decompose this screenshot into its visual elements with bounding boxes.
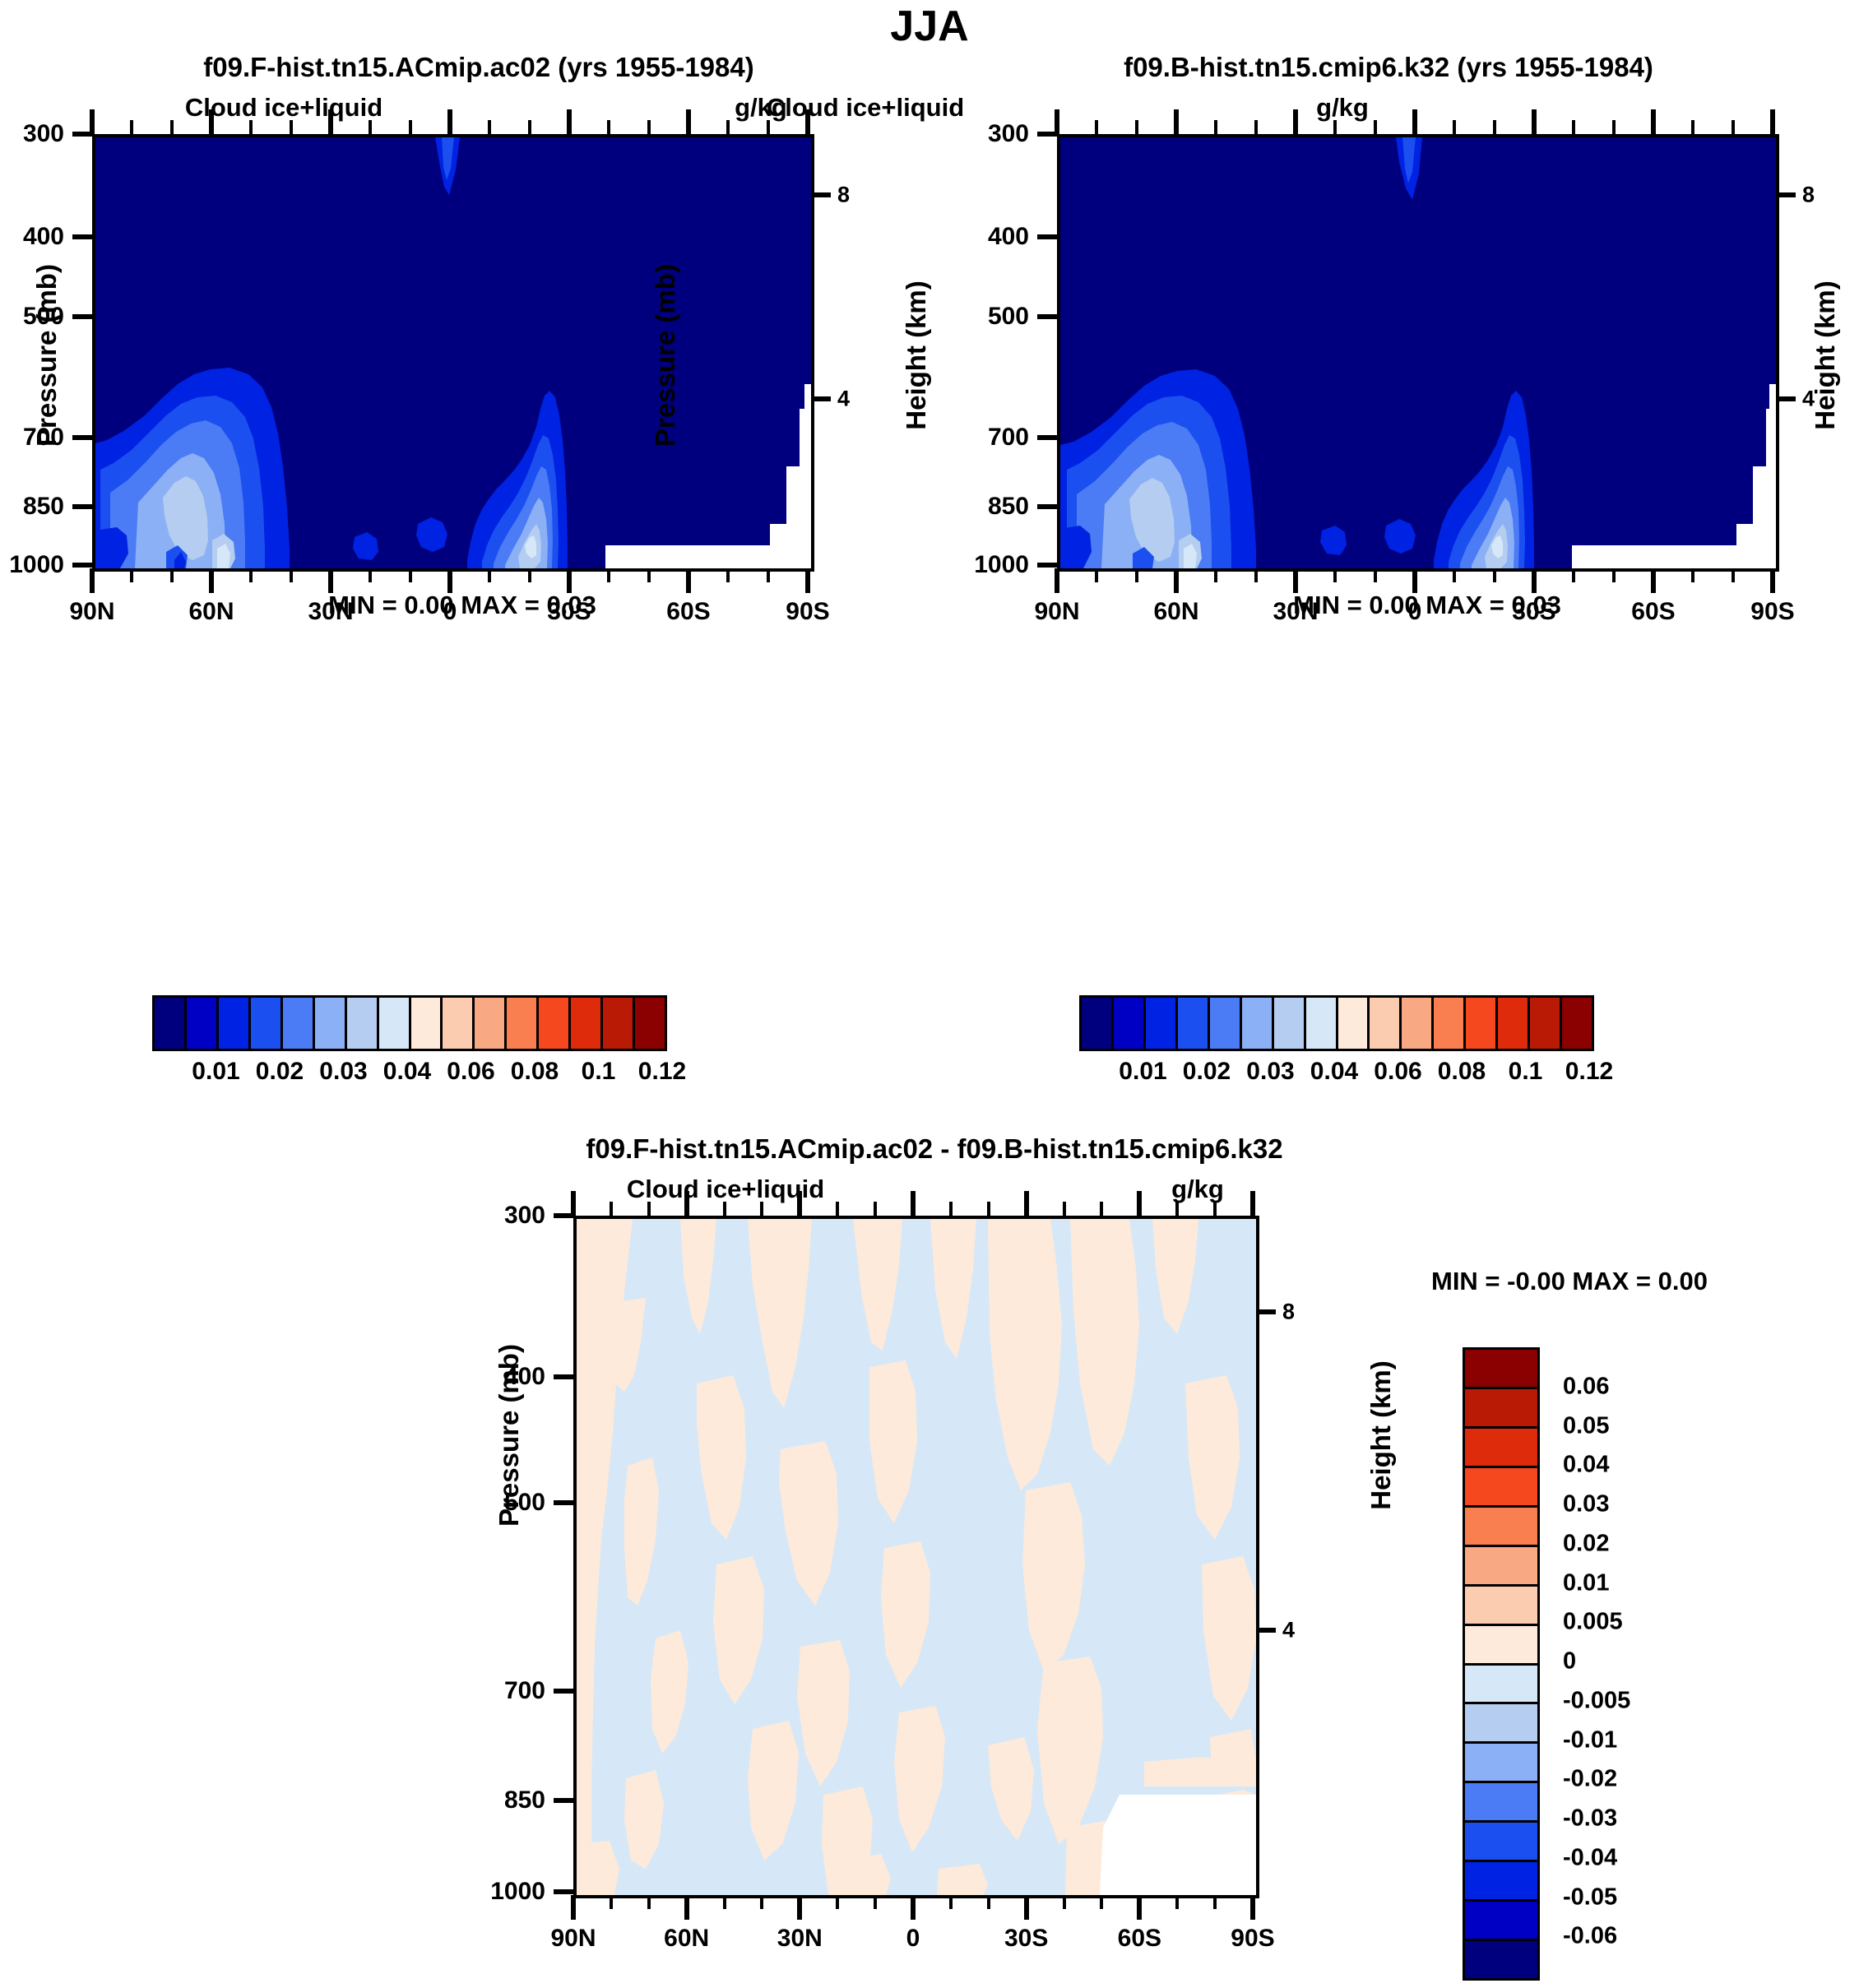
x-tick-label: 60N: [664, 1925, 709, 1953]
x-minor-tick-mark: [647, 568, 651, 582]
colorbar-tick-label: 0.04: [1310, 1058, 1358, 1086]
colorbar-cell[interactable]: [507, 998, 539, 1049]
colorbar-cell[interactable]: [347, 998, 379, 1049]
x-top-tick-mark: [797, 1191, 802, 1216]
colorbar-tick-label: 0.05: [1563, 1412, 1609, 1439]
colorbar-cell[interactable]: [315, 998, 347, 1049]
x-minor-tick-mark: [874, 1895, 877, 1909]
x-top-minor-tick-mark: [760, 1202, 763, 1216]
x-top-minor-tick-mark: [1374, 120, 1377, 134]
panel-title-right: f09.B-hist.tn15.cmip6.k32 (yrs 1955-1984…: [1124, 52, 1653, 83]
x-tick-label: 90S: [786, 598, 829, 626]
colorbar-tick-label: 0.06: [447, 1058, 494, 1086]
colorbar-right[interactable]: [1079, 995, 1594, 1051]
x-tick-mark: [1293, 568, 1298, 593]
colorbar-cell[interactable]: [1338, 998, 1370, 1049]
colorbar-tick-label: 0.02: [256, 1058, 304, 1086]
colorbar-cell[interactable]: [1242, 998, 1274, 1049]
x-top-minor-tick-mark: [1493, 120, 1496, 134]
x-minor-tick-mark: [409, 568, 412, 582]
x-top-minor-tick-mark: [528, 120, 531, 134]
x-tick-label: 0: [906, 1925, 920, 1953]
x-minor-tick-mark: [1572, 568, 1575, 582]
colorbar-tick-label: 0.12: [1565, 1058, 1613, 1086]
colorbar-cell[interactable]: [1114, 998, 1146, 1049]
x-tick-label: 30N: [777, 1925, 823, 1953]
y-tick-label: 500: [988, 303, 1029, 331]
colorbar-cell[interactable]: [1434, 998, 1466, 1049]
x-minor-tick-mark: [130, 568, 133, 582]
plot-area-left: [92, 134, 814, 572]
y-tick-label: 850: [504, 1786, 545, 1814]
y-tick-label: 850: [988, 493, 1029, 521]
colorbar-cell[interactable]: [1465, 1902, 1537, 1941]
x-tick-mark: [571, 1895, 576, 1920]
colorbar-tick-label: 0.08: [511, 1058, 559, 1086]
colorbar-tick-label: -0.01: [1563, 1726, 1617, 1754]
x-top-minor-tick-mark: [1135, 120, 1138, 134]
x-minor-tick-mark: [488, 568, 491, 582]
contour-fill-right: [1060, 137, 1776, 568]
colorbar-cell[interactable]: [1082, 998, 1114, 1049]
y-tick-mark: [1037, 314, 1057, 319]
x-top-tick-mark: [1770, 109, 1775, 134]
colorbar-tick-label: 0.01: [1119, 1058, 1166, 1086]
colorbar-cell[interactable]: [1306, 998, 1338, 1049]
x-tick-label: 60N: [1153, 598, 1198, 626]
panel-title-diff: f09.F-hist.tn15.ACmip.ac02 - f09.B-hist.…: [586, 1133, 1282, 1165]
colorbar-cell[interactable]: [1466, 998, 1498, 1049]
x-tick-mark: [90, 568, 95, 593]
x-tick-label: 90N: [1034, 598, 1079, 626]
y2-tick-mark: [1776, 396, 1796, 401]
y-tick-mark: [554, 1500, 573, 1505]
x-tick-mark: [1770, 568, 1775, 593]
colorbar-cell[interactable]: [251, 998, 283, 1049]
colorbar-left[interactable]: [152, 995, 667, 1051]
y-tick-mark: [554, 1374, 573, 1379]
x-minor-tick-mark: [987, 1895, 990, 1909]
x-top-tick-mark: [571, 1191, 576, 1216]
colorbar-cell[interactable]: [1530, 998, 1562, 1049]
x-tick-mark: [1651, 568, 1656, 593]
y-tick-label: 1000: [9, 551, 64, 579]
contour-fill-left: [95, 137, 811, 568]
colorbar-cell[interactable]: [1178, 998, 1210, 1049]
y-tick-label: 700: [23, 424, 64, 452]
x-top-minor-tick-mark: [130, 120, 133, 134]
x-minor-tick-mark: [1095, 568, 1098, 582]
x-top-minor-tick-mark: [726, 120, 730, 134]
x-minor-tick-mark: [249, 568, 253, 582]
x-minor-tick-mark: [1214, 568, 1217, 582]
colorbar-cell[interactable]: [1465, 1429, 1537, 1468]
x-minor-tick-mark: [1100, 1895, 1103, 1909]
x-tick-mark: [1412, 568, 1417, 593]
x-top-tick-mark: [1137, 1191, 1142, 1216]
y-tick-mark: [1037, 563, 1057, 568]
y-tick-label: 300: [23, 120, 64, 148]
figure-suptitle: JJA: [890, 2, 968, 51]
y-tick-mark: [554, 1889, 573, 1894]
x-minor-tick-mark: [723, 1895, 726, 1909]
colorbar-tick-label: 0.1: [582, 1058, 616, 1086]
minmax-right: MIN = 0.00 MAX = 0.03: [1293, 591, 1561, 620]
colorbar-cell[interactable]: [1402, 998, 1434, 1049]
x-top-minor-tick-mark: [647, 120, 651, 134]
y-tick-label: 400: [23, 223, 64, 251]
colorbar-tick-label: 0.08: [1438, 1058, 1486, 1086]
colorbar-tick-label: -0.05: [1563, 1884, 1617, 1911]
x-minor-tick-mark: [760, 1895, 763, 1909]
y2-tick-label: 4: [837, 386, 850, 411]
y-tick-mark: [72, 234, 92, 239]
x-top-tick-mark: [686, 109, 691, 134]
colorbar-cell[interactable]: [1465, 1744, 1537, 1783]
colorbar-cell[interactable]: [1562, 998, 1592, 1049]
x-top-tick-mark: [90, 109, 95, 134]
x-tick-mark: [1024, 1895, 1029, 1920]
x-tick-label: 90S: [1231, 1925, 1274, 1953]
x-top-minor-tick-mark: [488, 120, 491, 134]
y2-tick-mark: [811, 192, 831, 197]
x-minor-tick-mark: [1213, 1895, 1217, 1909]
x-tick-mark: [328, 568, 333, 593]
colorbar-tick-label: 0.04: [383, 1058, 431, 1086]
x-minor-tick-mark: [1333, 568, 1337, 582]
x-top-minor-tick-mark: [1214, 120, 1217, 134]
colorbar-cell[interactable]: [1498, 998, 1530, 1049]
y-tick-label: 300: [988, 120, 1029, 148]
y-tick-mark: [554, 1798, 573, 1803]
y-axis-title-right: Pressure (mb): [650, 264, 681, 447]
x-top-minor-tick-mark: [1063, 1202, 1066, 1216]
x-minor-tick-mark: [1453, 568, 1456, 582]
x-top-minor-tick-mark: [1691, 120, 1694, 134]
x-top-minor-tick-mark: [1100, 1202, 1103, 1216]
y-tick-label: 500: [23, 303, 64, 331]
x-tick-label: 60N: [188, 598, 234, 626]
colorbar-tick-label: 0.005: [1563, 1609, 1623, 1636]
x-minor-tick-mark: [949, 1895, 953, 1909]
plot-area-right: [1057, 134, 1779, 572]
x-tick-mark: [447, 568, 452, 593]
colorbar-cell[interactable]: [571, 998, 603, 1049]
x-top-minor-tick-mark: [1095, 120, 1098, 134]
colorbar-tick-label: 0.02: [1563, 1530, 1609, 1557]
y2-tick-label: 4: [1282, 1618, 1295, 1643]
minmax-diff: MIN = -0.00 MAX = 0.00: [1431, 1267, 1708, 1296]
x-top-tick-mark: [1024, 1191, 1029, 1216]
field-label-right: Cloud ice+liquid: [767, 93, 964, 123]
colorbar-tick-label: 0.1: [1509, 1058, 1543, 1086]
colorbar-cell[interactable]: [1465, 1587, 1537, 1626]
x-tick-label: 90N: [69, 598, 114, 626]
x-minor-tick-mark: [836, 1895, 839, 1909]
colorbar-cell[interactable]: [1370, 998, 1402, 1049]
x-top-tick-mark: [1532, 109, 1537, 134]
x-top-minor-tick-mark: [874, 1202, 877, 1216]
y-axis-title-left: Pressure (mb): [31, 264, 63, 447]
x-top-minor-tick-mark: [1213, 1202, 1217, 1216]
x-top-minor-tick-mark: [290, 120, 293, 134]
x-tick-mark: [684, 1895, 689, 1920]
colorbar-cell[interactable]: [603, 998, 635, 1049]
x-tick-mark: [209, 568, 214, 593]
x-tick-label: 60S: [1631, 598, 1675, 626]
colorbar-diff[interactable]: [1463, 1347, 1540, 1981]
x-minor-tick-mark: [610, 1895, 613, 1909]
x-minor-tick-mark: [1063, 1895, 1066, 1909]
colorbar-tick-label: 0.03: [319, 1058, 367, 1086]
colorbar-tick-label: 0.03: [1563, 1491, 1609, 1518]
colorbar-cell[interactable]: [283, 998, 315, 1049]
x-minor-tick-mark: [1732, 568, 1735, 582]
x-top-tick-mark: [684, 1191, 689, 1216]
x-top-minor-tick-mark: [1254, 120, 1258, 134]
y-tick-label: 400: [988, 223, 1029, 251]
x-tick-label: 60S: [666, 598, 710, 626]
y-tick-label: 500: [504, 1489, 545, 1517]
y2-tick-mark: [811, 396, 831, 401]
x-top-minor-tick-mark: [1453, 120, 1456, 134]
x-top-minor-tick-mark: [249, 120, 253, 134]
colorbar-cell[interactable]: [1274, 998, 1306, 1049]
y-tick-label: 400: [504, 1363, 545, 1391]
colorbar-cell[interactable]: [187, 998, 219, 1049]
y-tick-label: 700: [504, 1677, 545, 1705]
y-tick-label: 850: [23, 493, 64, 521]
colorbar-cell[interactable]: [1465, 1547, 1537, 1587]
y-tick-label: 300: [504, 1202, 545, 1230]
x-top-minor-tick-mark: [1333, 120, 1337, 134]
field-label-left: Cloud ice+liquid: [185, 93, 382, 123]
x-top-minor-tick-mark: [949, 1202, 953, 1216]
colorbar-cell[interactable]: [155, 998, 187, 1049]
x-top-tick-mark: [1250, 1191, 1255, 1216]
colorbar-cell[interactable]: [379, 998, 411, 1049]
y2-axis-title-diff: Height (km): [1365, 1360, 1397, 1510]
colorbar-tick-label: 0.03: [1246, 1058, 1294, 1086]
colorbar-cell[interactable]: [635, 998, 665, 1049]
colorbar-cell[interactable]: [1210, 998, 1242, 1049]
y-tick-mark: [72, 314, 92, 319]
colorbar-cell[interactable]: [1465, 1862, 1537, 1902]
x-top-minor-tick-mark: [607, 120, 610, 134]
x-tick-mark: [1174, 568, 1179, 593]
x-top-minor-tick-mark: [647, 1202, 651, 1216]
y-tick-mark: [1037, 504, 1057, 509]
colorbar-cell[interactable]: [475, 998, 507, 1049]
x-tick-mark: [1137, 1895, 1142, 1920]
y2-tick-mark: [1256, 1309, 1276, 1314]
colorbar-cell[interactable]: [219, 998, 251, 1049]
contour-fill-diff: [577, 1219, 1256, 1895]
x-tick-mark: [1250, 1895, 1255, 1920]
colorbar-cell[interactable]: [1465, 1468, 1537, 1508]
colorbar-tick-label: 0.01: [1563, 1569, 1609, 1596]
colorbar-cell[interactable]: [411, 998, 443, 1049]
figure-root: JJA f09.F-hist.tn15.ACmip.ac02 (yrs 1955…: [0, 0, 1859, 1988]
field-label-diff: Cloud ice+liquid: [627, 1175, 824, 1204]
x-top-minor-tick-mark: [369, 120, 372, 134]
x-tick-mark: [911, 1895, 916, 1920]
colorbar-cell[interactable]: [539, 998, 571, 1049]
x-top-minor-tick-mark: [836, 1202, 839, 1216]
colorbar-cell[interactable]: [1465, 1389, 1537, 1429]
x-top-tick-mark: [1651, 109, 1656, 134]
y-tick-label: 700: [988, 424, 1029, 452]
x-tick-mark: [1055, 568, 1059, 593]
x-top-minor-tick-mark: [170, 120, 174, 134]
x-top-minor-tick-mark: [1612, 120, 1616, 134]
colorbar-tick-label: 0.06: [1374, 1058, 1421, 1086]
y-tick-mark: [1037, 435, 1057, 440]
colorbar-tick-label: 0.04: [1563, 1452, 1609, 1479]
x-minor-tick-mark: [369, 568, 372, 582]
x-minor-tick-mark: [170, 568, 174, 582]
colorbar-tick-label: -0.03: [1563, 1805, 1617, 1833]
x-top-minor-tick-mark: [610, 1202, 613, 1216]
colorbar-tick-label: -0.005: [1563, 1687, 1630, 1714]
x-minor-tick-mark: [1175, 1895, 1179, 1909]
colorbar-cell[interactable]: [443, 998, 475, 1049]
x-tick-label: 90N: [550, 1925, 596, 1953]
colorbar-tick-label: 0.01: [192, 1058, 239, 1086]
x-minor-tick-mark: [1691, 568, 1694, 582]
unit-label-diff: g/kg: [1171, 1175, 1224, 1204]
y-tick-label: 1000: [974, 551, 1029, 579]
colorbar-tick-label: -0.04: [1563, 1844, 1617, 1871]
x-minor-tick-mark: [726, 568, 730, 582]
x-top-minor-tick-mark: [987, 1202, 990, 1216]
x-minor-tick-mark: [1493, 568, 1496, 582]
colorbar-tick-label: 0.06: [1563, 1373, 1609, 1400]
colorbar-cell[interactable]: [1465, 1823, 1537, 1862]
x-tick-mark: [567, 568, 572, 593]
x-top-minor-tick-mark: [723, 1202, 726, 1216]
colorbar-cell[interactable]: [1465, 1783, 1537, 1823]
x-top-tick-mark: [1293, 109, 1298, 134]
x-tick-label: 30S: [1004, 1925, 1048, 1953]
x-top-minor-tick-mark: [1572, 120, 1575, 134]
y-tick-mark: [72, 504, 92, 509]
x-tick-mark: [686, 568, 691, 593]
x-top-tick-mark: [1174, 109, 1179, 134]
y-tick-mark: [1037, 234, 1057, 239]
y2-tick-mark: [1256, 1628, 1276, 1633]
x-top-tick-mark: [209, 109, 214, 134]
colorbar-cell[interactable]: [1465, 1704, 1537, 1744]
x-minor-tick-mark: [607, 568, 610, 582]
y2-tick-label: 4: [1802, 386, 1815, 411]
x-minor-tick-mark: [1135, 568, 1138, 582]
x-top-minor-tick-mark: [1732, 120, 1735, 134]
minmax-left: MIN = 0.00 MAX = 0.03: [328, 591, 596, 620]
colorbar-tick-label: -0.06: [1563, 1923, 1617, 1950]
y-tick-mark: [72, 435, 92, 440]
y2-tick-label: 8: [837, 183, 850, 208]
x-tick-label: 60S: [1118, 1925, 1161, 1953]
y2-axis-title-left: Height (km): [901, 280, 932, 430]
x-top-tick-mark: [911, 1191, 916, 1216]
x-minor-tick-mark: [1374, 568, 1377, 582]
colorbar-cell[interactable]: [1465, 1666, 1537, 1705]
colorbar-tick-label: 0.12: [638, 1058, 686, 1086]
x-top-tick-mark: [567, 109, 572, 134]
y-tick-mark: [554, 1689, 573, 1694]
x-top-minor-tick-mark: [409, 120, 412, 134]
x-minor-tick-mark: [1612, 568, 1616, 582]
panel-title-left: f09.F-hist.tn15.ACmip.ac02 (yrs 1955-198…: [203, 52, 753, 83]
x-top-tick-mark: [328, 109, 333, 134]
x-minor-tick-mark: [647, 1895, 651, 1909]
colorbar-tick-label: -0.02: [1563, 1766, 1617, 1793]
x-top-minor-tick-mark: [1175, 1202, 1179, 1216]
colorbar-cell[interactable]: [1465, 1508, 1537, 1547]
plot-area-diff: [573, 1216, 1259, 1898]
unit-label-right: g/kg: [1316, 93, 1369, 123]
x-minor-tick-mark: [290, 568, 293, 582]
x-tick-mark: [1532, 568, 1537, 593]
x-minor-tick-mark: [1254, 568, 1258, 582]
x-top-tick-mark: [1055, 109, 1059, 134]
x-minor-tick-mark: [528, 568, 531, 582]
y2-tick-mark: [1776, 192, 1796, 197]
colorbar-cell[interactable]: [1465, 1941, 1537, 1978]
x-top-tick-mark: [447, 109, 452, 134]
y2-tick-label: 8: [1282, 1299, 1295, 1324]
y-tick-label: 1000: [490, 1878, 545, 1906]
x-tick-label: 90S: [1750, 598, 1794, 626]
x-tick-mark: [805, 568, 810, 593]
y-tick-mark: [72, 563, 92, 568]
x-tick-mark: [797, 1895, 802, 1920]
x-minor-tick-mark: [767, 568, 770, 582]
colorbar-tick-label: 0: [1563, 1648, 1576, 1675]
x-top-tick-mark: [1412, 109, 1417, 134]
colorbar-cell[interactable]: [1465, 1626, 1537, 1666]
y2-tick-label: 8: [1802, 183, 1815, 208]
colorbar-cell[interactable]: [1465, 1350, 1537, 1389]
colorbar-cell[interactable]: [1146, 998, 1178, 1049]
colorbar-tick-label: 0.02: [1183, 1058, 1231, 1086]
